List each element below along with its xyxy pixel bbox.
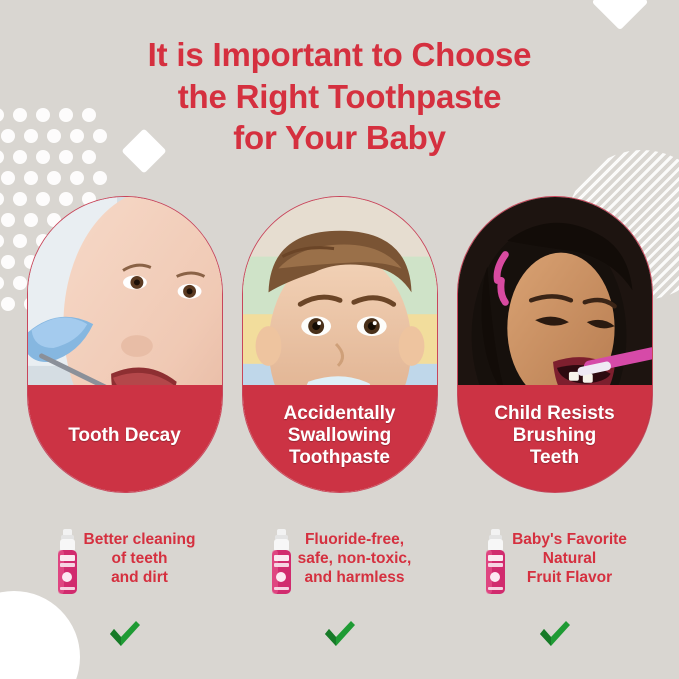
- card-label-line: Child Resists: [494, 403, 614, 425]
- benefit-text: Better cleaning of teeth and dirt: [80, 527, 196, 588]
- dot-decoration: [70, 171, 84, 185]
- card-label-line: Brushing: [494, 425, 614, 447]
- dot-decoration: [93, 171, 107, 185]
- dot-decoration: [1, 171, 15, 185]
- problem-card: Child Resists Brushing Teeth: [457, 196, 653, 493]
- benefit-text-line: and harmless: [298, 569, 412, 588]
- benefit-item: Better cleaning of teeth and dirt: [27, 527, 223, 649]
- dot-decoration: [47, 171, 61, 185]
- pink-foam-toothpaste-bottle: [54, 529, 80, 595]
- title-line-2: the Right Toothpaste: [0, 76, 679, 118]
- green-check-mark-icon: [323, 619, 357, 649]
- green-check-mark-icon: [538, 619, 572, 649]
- problem-card: Tooth Decay: [27, 196, 223, 493]
- card-label-line: Toothpaste: [284, 447, 396, 469]
- benefit-item: Baby's Favorite Natural Fruit Flavor: [457, 527, 653, 649]
- problem-card: Accidentally Swallowing Toothpaste: [242, 196, 438, 493]
- benefit-text-line: Better cleaning: [84, 531, 196, 550]
- dot-decoration: [24, 171, 38, 185]
- pink-foam-toothpaste-bottle: [268, 529, 294, 595]
- green-check-mark-icon: [108, 619, 142, 649]
- benefit-text-line: safe, non-toxic,: [298, 550, 412, 569]
- card-label-line: Tooth Decay: [68, 425, 181, 447]
- benefit-text-line: and dirt: [84, 569, 196, 588]
- benefit-list: Better cleaning of teeth and dirt: [0, 527, 679, 649]
- card-label-line: Swallowing: [284, 425, 396, 447]
- benefit-text: Fluoride-free, safe, non-toxic, and harm…: [294, 527, 412, 588]
- benefit-text-line: Fruit Flavor: [512, 569, 627, 588]
- benefit-text-line: Natural: [512, 550, 627, 569]
- benefit-text-line: of teeth: [84, 550, 196, 569]
- problem-card-list: Tooth Decay: [0, 196, 679, 516]
- benefit-text: Baby's Favorite Natural Fruit Flavor: [508, 527, 627, 588]
- benefit-text-line: Fluoride-free,: [298, 531, 412, 550]
- page-title: It is Important to Choose the Right Toot…: [0, 34, 679, 159]
- benefit-item: Fluoride-free, safe, non-toxic, and harm…: [242, 527, 438, 649]
- title-line-3: for Your Baby: [0, 117, 679, 159]
- benefit-text-line: Baby's Favorite: [512, 531, 627, 550]
- diamond-decoration-top: [592, 0, 649, 30]
- pink-foam-toothpaste-bottle: [482, 529, 508, 595]
- infographic-poster: It is Important to Choose the Right Toot…: [0, 0, 679, 679]
- card-label-line: Accidentally: [284, 403, 396, 425]
- card-label-line: Teeth: [494, 447, 614, 469]
- title-line-1: It is Important to Choose: [0, 34, 679, 76]
